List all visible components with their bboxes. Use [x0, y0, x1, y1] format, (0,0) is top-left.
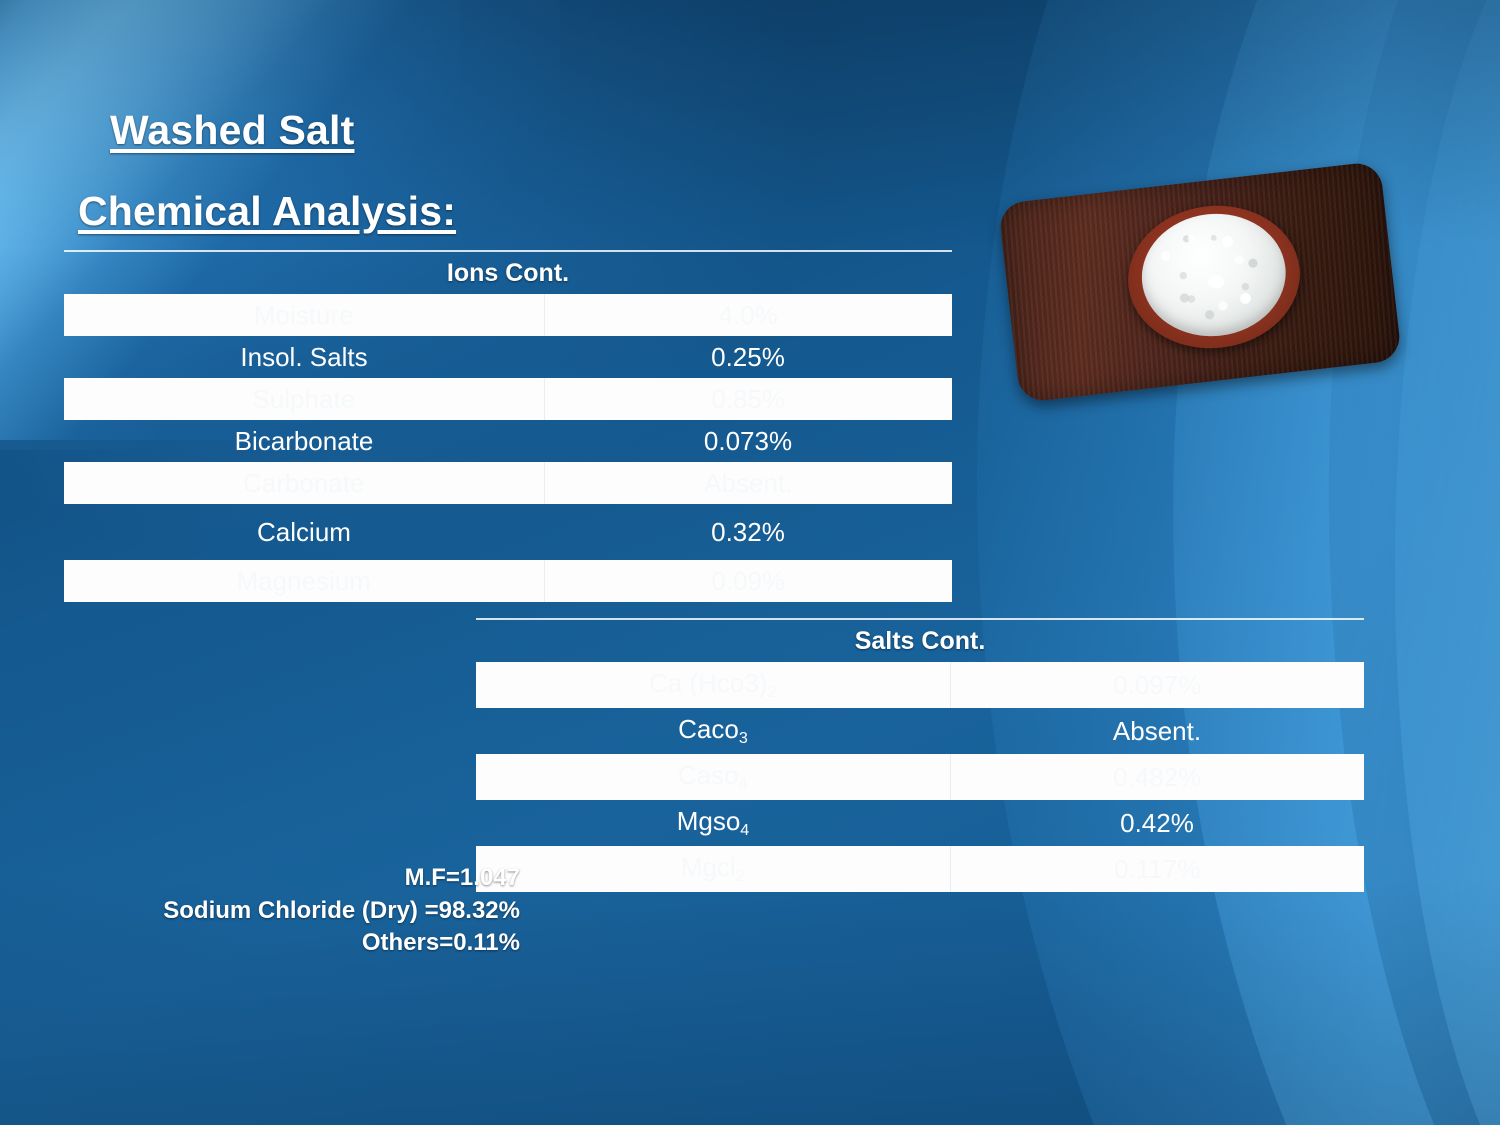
- row-value: 4.0%: [544, 294, 952, 336]
- row-label: Mgcl2: [476, 846, 950, 892]
- row-label: Bicarbonate: [64, 420, 544, 462]
- table-row: Ca (Hco3)2 0.097%: [476, 662, 1364, 708]
- row-value: 0.097%: [950, 662, 1364, 708]
- row-label: Magnesium: [64, 560, 544, 602]
- note-others: Others=0.11%: [76, 927, 520, 960]
- table-row: Bicarbonate 0.073%: [64, 420, 952, 462]
- row-value: 0.25%: [544, 336, 952, 378]
- row-value: 0.09%: [544, 560, 952, 602]
- table-row: Magnesium 0.09%: [64, 560, 952, 602]
- salt-photo: [1000, 176, 1400, 394]
- row-label: Caso4: [476, 754, 950, 800]
- table-row: Moisture 4.0%: [64, 294, 952, 336]
- row-label: Sulphate: [64, 378, 544, 420]
- table-row: Carbonate Absent.: [64, 462, 952, 504]
- row-value: 0.42%: [950, 800, 1364, 846]
- section-heading: Chemical Analysis:: [78, 188, 456, 235]
- ions-table-caption: Ions Cont.: [64, 252, 952, 294]
- page-title: Washed Salt: [110, 107, 354, 154]
- row-label: Moisture: [64, 294, 544, 336]
- table-row: Mgcl2 0.117%: [476, 846, 1364, 892]
- table-row: Caso4 0.482%: [476, 754, 1364, 800]
- row-value: 0.85%: [544, 378, 952, 420]
- row-value: 0.32%: [544, 504, 952, 560]
- note-sodium-chloride: Sodium Chloride (Dry) =98.32%: [76, 895, 520, 928]
- ions-content-table: Ions Cont. Moisture 4.0% Insol. Salts 0.…: [64, 250, 952, 602]
- note-moisture-factor: M.F=1.047: [76, 862, 520, 895]
- salt-crystals: [1135, 206, 1292, 344]
- table-row: Sulphate 0.85%: [64, 378, 952, 420]
- row-label: Calcium: [64, 504, 544, 560]
- row-label: Insol. Salts: [64, 336, 544, 378]
- summary-notes: M.F=1.047 Sodium Chloride (Dry) =98.32% …: [76, 862, 520, 960]
- row-value: Absent.: [950, 708, 1364, 754]
- row-value: 0.482%: [950, 754, 1364, 800]
- slide: Washed Salt Chemical Analysis: Ions Cont…: [0, 0, 1500, 1125]
- row-value: Absent.: [544, 462, 952, 504]
- table-row: Calcium 0.32%: [64, 504, 952, 560]
- salts-table-caption: Salts Cont.: [476, 620, 1364, 662]
- row-value: 0.117%: [950, 846, 1364, 892]
- row-value: 0.073%: [544, 420, 952, 462]
- salts-content-table: Salts Cont. Ca (Hco3)2 0.097% Caco3 Abse…: [476, 618, 1364, 892]
- row-label: Carbonate: [64, 462, 544, 504]
- row-label: Caco3: [476, 708, 950, 754]
- row-label: Mgso4: [476, 800, 950, 846]
- table-row: Insol. Salts 0.25%: [64, 336, 952, 378]
- table-row: Mgso4 0.42%: [476, 800, 1364, 846]
- table-row: Caco3 Absent.: [476, 708, 1364, 754]
- row-label: Ca (Hco3)2: [476, 662, 950, 708]
